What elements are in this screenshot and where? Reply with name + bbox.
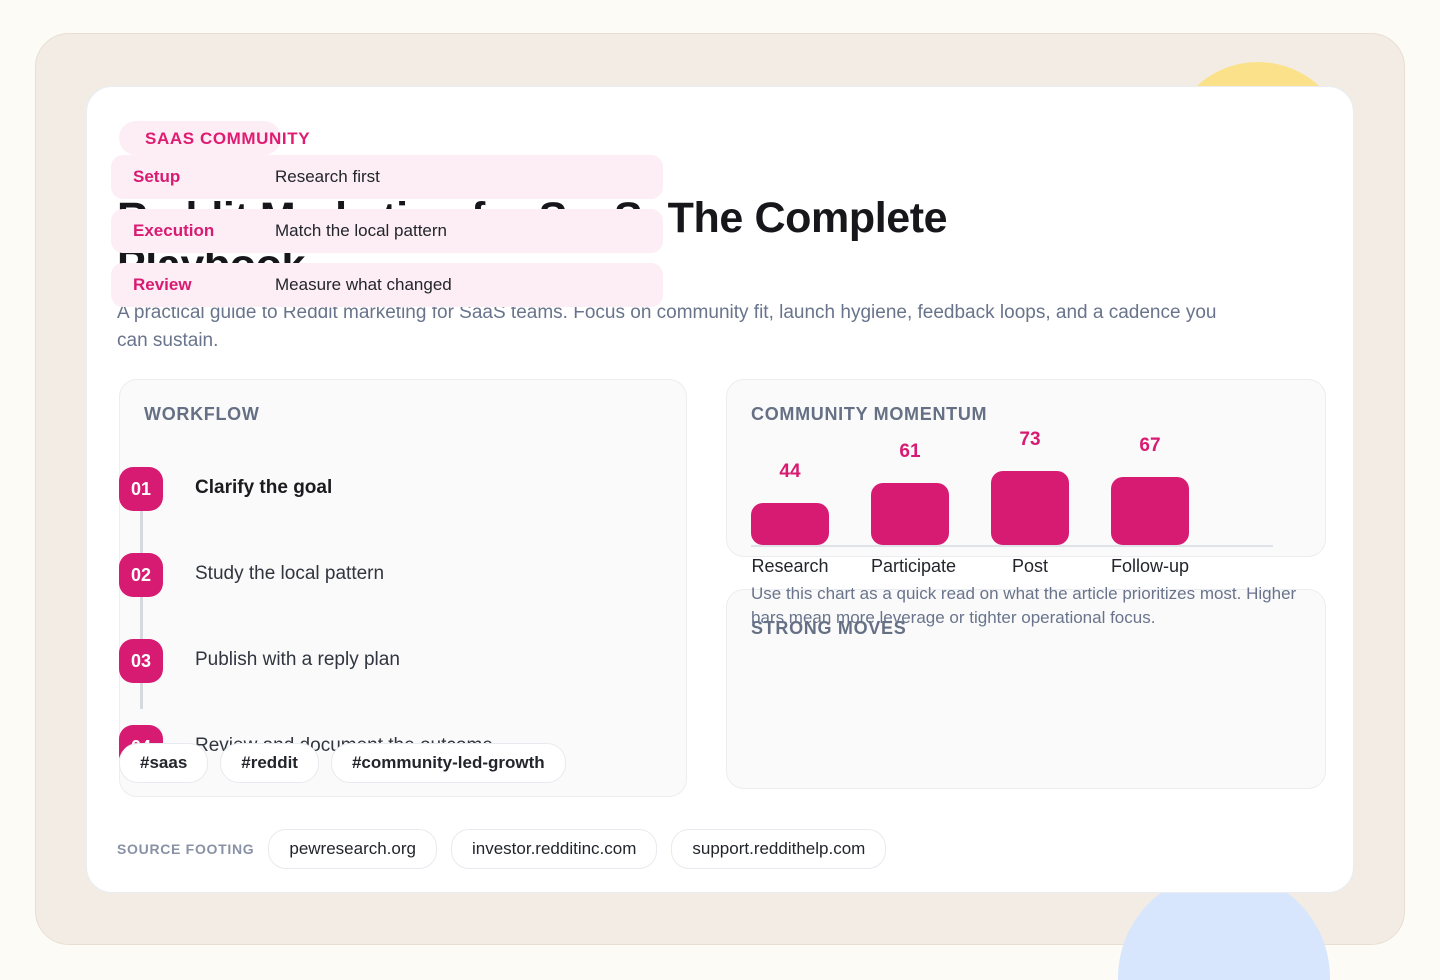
step-number-badge: 03: [119, 639, 163, 683]
source-footing-label: SOURCE FOOTING: [117, 841, 254, 857]
community-momentum-panel: COMMUNITY MOMENTUM 44 61 73: [726, 379, 1326, 557]
x-tick-follow-up: Follow-up: [1111, 556, 1189, 577]
bar-value-label: 44: [751, 461, 829, 483]
step-label: Clarify the goal: [195, 477, 332, 499]
chart-axis-baseline: [751, 545, 1273, 547]
step-number-badge: 02: [119, 553, 163, 597]
chart-x-axis-labels: Research Participate Post Follow-up: [751, 556, 1303, 577]
strong-moves-list: Setup Research first Execution Match the…: [111, 155, 663, 317]
bar-chart-bars: 44 61 73 67: [751, 440, 1303, 545]
tag-saas[interactable]: #saas: [119, 743, 208, 783]
strong-move-row-execution[interactable]: Execution Match the local pattern: [111, 209, 663, 253]
source-chip-pewresearch[interactable]: pewresearch.org: [268, 829, 437, 869]
bar-column-post: 73: [991, 440, 1069, 545]
tag-community-led-growth[interactable]: #community-led-growth: [331, 743, 566, 783]
move-key: Setup: [133, 167, 180, 187]
page-root: SAAS COMMUNITY Reddit Marketing for SaaS…: [0, 0, 1440, 980]
move-key: Review: [133, 275, 192, 295]
move-value: Match the local pattern: [275, 221, 447, 241]
bar-chart: 44 61 73 67: [751, 440, 1303, 545]
move-key: Execution: [133, 221, 214, 241]
source-chip-support-reddithelp[interactable]: support.reddithelp.com: [671, 829, 886, 869]
bar-participate[interactable]: [871, 483, 949, 545]
move-value: Measure what changed: [275, 275, 452, 295]
bar-post[interactable]: [991, 471, 1069, 545]
strong-move-row-review[interactable]: Review Measure what changed: [111, 263, 663, 307]
source-chip-investor-redditinc[interactable]: investor.redditinc.com: [451, 829, 657, 869]
bar-column-follow-up: 67: [1111, 440, 1189, 545]
source-footing: SOURCE FOOTING pewresearch.org investor.…: [117, 829, 886, 869]
workflow-panel-title: WORKFLOW: [144, 404, 260, 425]
x-tick-research: Research: [751, 556, 829, 577]
content-card: SAAS COMMUNITY Reddit Marketing for SaaS…: [86, 86, 1354, 893]
chart-caption: Use this chart as a quick read on what t…: [751, 582, 1311, 630]
step-label: Study the local pattern: [195, 563, 384, 585]
bar-follow-up[interactable]: [1111, 477, 1189, 545]
bar-value-label: 73: [991, 429, 1069, 451]
bar-research[interactable]: [751, 503, 829, 545]
community-momentum-title: COMMUNITY MOMENTUM: [751, 404, 987, 425]
step-label: Publish with a reply plan: [195, 649, 400, 671]
bar-column-research: 44: [751, 440, 829, 545]
tag-reddit[interactable]: #reddit: [220, 743, 319, 783]
move-value: Research first: [275, 167, 380, 187]
x-tick-post: Post: [991, 556, 1069, 577]
strong-move-row-setup[interactable]: Setup Research first: [111, 155, 663, 199]
category-badge-label: SAAS COMMUNITY: [145, 129, 310, 149]
bar-value-label: 61: [871, 441, 949, 463]
x-tick-participate: Participate: [871, 556, 949, 577]
workflow-tag-row: #saas #reddit #community-led-growth: [119, 743, 566, 783]
bar-column-participate: 61: [871, 440, 949, 545]
bar-value-label: 67: [1111, 435, 1189, 457]
step-number-badge: 01: [119, 467, 163, 511]
